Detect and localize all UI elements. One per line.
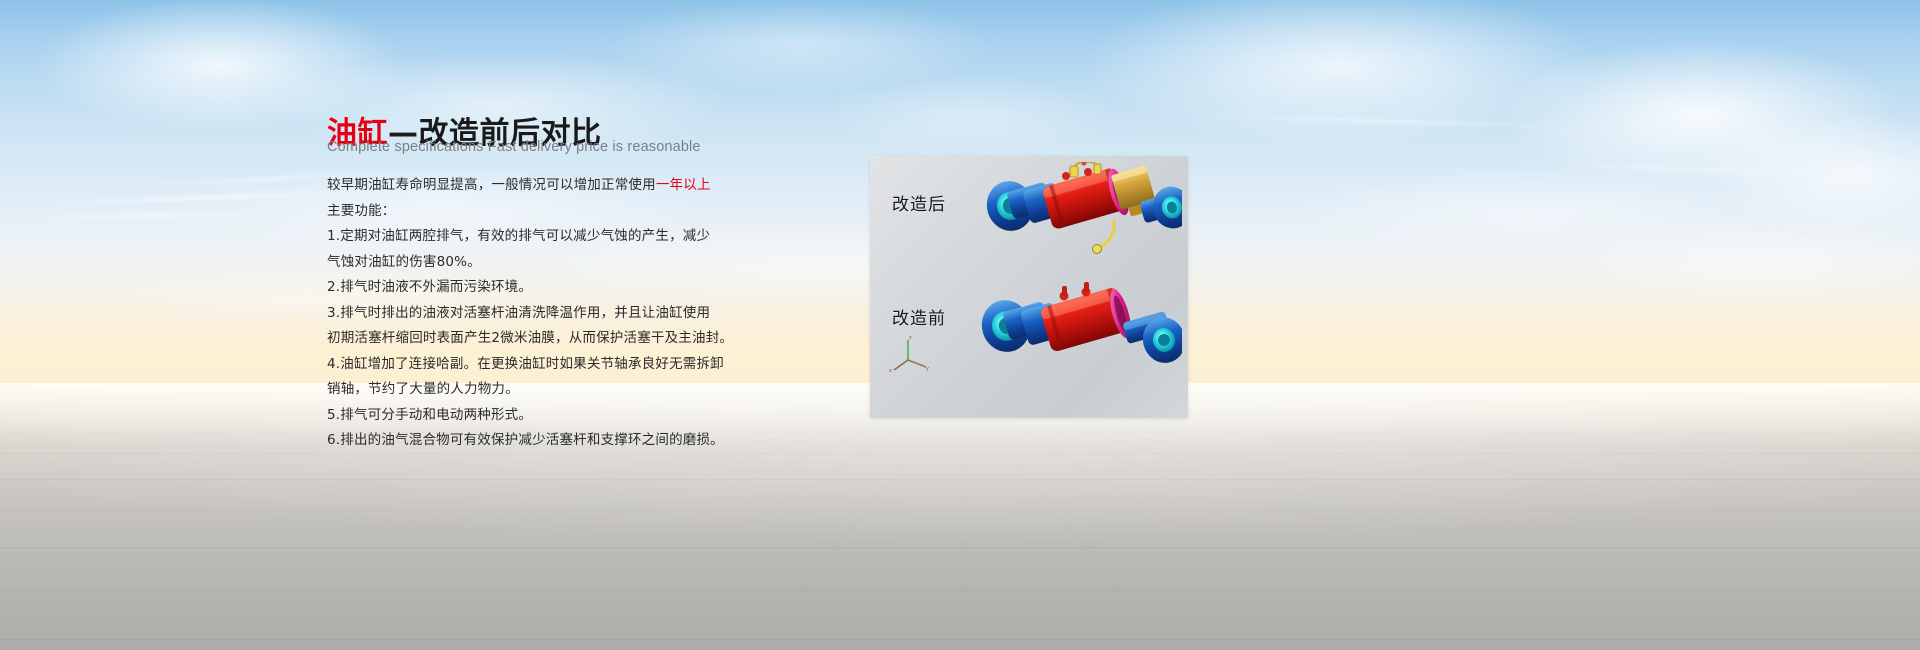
svg-text:z: z [909, 335, 912, 341]
feature-line: 3.排气时排出的油液对活塞杆油清洗降温作用，并且让油缸使用 [327, 301, 747, 327]
feature-line-text: 5.排气可分手动和电动两种形式。 [327, 407, 532, 423]
hydraulic-cylinder-before-render [966, 278, 1182, 404]
feature-line: 1.定期对油缸两腔排气，有效的排气可以减少气蚀的产生，减少 [327, 224, 747, 250]
feature-line-text: 1.定期对油缸两腔排气，有效的排气可以减少气蚀的产生，减少 [327, 228, 710, 244]
feature-line-text: 3.排气时排出的油液对活塞杆油清洗降温作用，并且让油缸使用 [327, 305, 710, 321]
feature-line-text: 2.排气时油液不外漏而污染环境。 [327, 279, 532, 295]
feature-line-text: 气蚀对油缸的伤害80%。 [327, 254, 481, 270]
banner-content: 油缸—改造前后对比 Complete specifications Fast d… [0, 0, 1920, 650]
feature-line-text: 销轴，节约了大量的人力物力。 [327, 381, 519, 397]
hydraulic-cylinder-after-render [966, 162, 1182, 280]
feature-line: 主要功能： [327, 199, 747, 225]
feature-line: 气蚀对油缸的伤害80%。 [327, 250, 747, 276]
feature-line: 初期活塞杆缩回时表面产生2微米油膜，从而保护活塞干及主油封。 [327, 326, 747, 352]
feature-line: 4.油缸增加了连接哈副。在更换油缸时如果关节轴承良好无需拆卸 [327, 352, 747, 378]
feature-line: 销轴，节约了大量的人力物力。 [327, 377, 747, 403]
feature-line-text: 4.油缸增加了连接哈副。在更换油缸时如果关节轴承良好无需拆卸 [327, 356, 724, 372]
page-subtitle: Complete specifications Fast delivery pr… [327, 139, 701, 155]
svg-text:x: x [889, 368, 892, 374]
feature-line-text: 主要功能： [327, 203, 396, 219]
feature-line: 5.排气可分手动和电动两种形式。 [327, 403, 747, 429]
label-before-modification: 改造前 [892, 304, 946, 329]
feature-description-block: 较早期油缸寿命明显提高，一般情况可以增加正常使用一年以上主要功能：1.定期对油缸… [327, 173, 747, 454]
cad-comparison-panel: 改造后 改造前 z x y [870, 156, 1188, 418]
feature-line: 较早期油缸寿命明显提高，一般情况可以增加正常使用一年以上 [327, 173, 747, 199]
axis-gizmo-icon: z x y [888, 334, 932, 374]
svg-text:y: y [926, 366, 929, 372]
feature-line-text: 初期活塞杆缩回时表面产生2微米油膜，从而保护活塞干及主油封。 [327, 330, 733, 346]
feature-line: 2.排气时油液不外漏而污染环境。 [327, 275, 747, 301]
label-after-modification: 改造后 [892, 190, 946, 215]
feature-line: 6.排出的油气混合物可有效保护减少活塞杆和支撑环之间的磨损。 [327, 428, 747, 454]
feature-line-text: 较早期油缸寿命明显提高，一般情况可以增加正常使用 [327, 177, 656, 193]
feature-line-text: 6.排出的油气混合物可有效保护减少活塞杆和支撑环之间的磨损。 [327, 432, 724, 448]
banner-stage: 油缸—改造前后对比 Complete specifications Fast d… [0, 0, 1920, 650]
feature-line-highlight: 一年以上 [656, 177, 711, 193]
